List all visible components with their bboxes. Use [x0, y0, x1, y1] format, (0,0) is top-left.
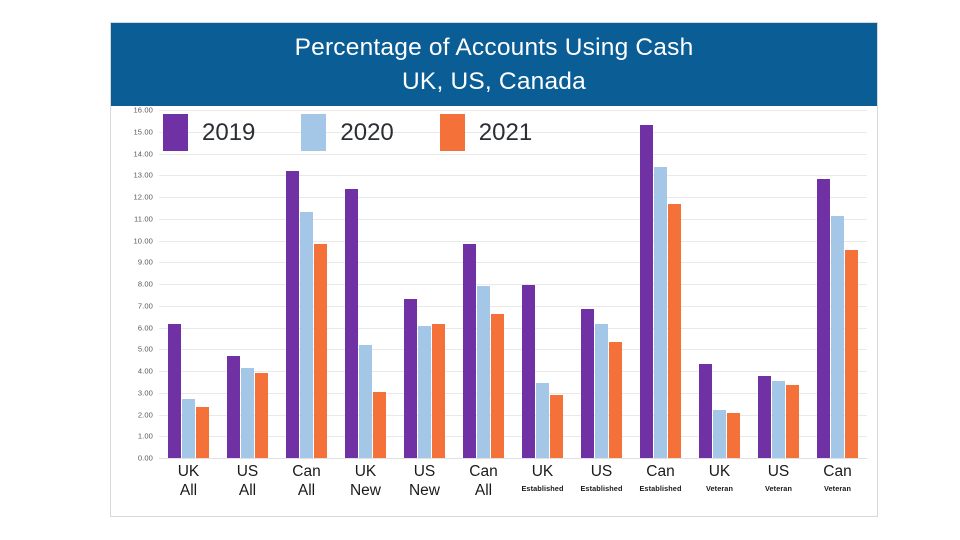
bar-2019[interactable] [581, 309, 594, 458]
y-axis-tick-label: 11.00 [134, 214, 153, 223]
bar-2019[interactable] [404, 299, 417, 458]
bar-2020[interactable] [418, 326, 431, 458]
y-axis-tick-label: 13.00 [133, 171, 153, 180]
bar-2021[interactable] [550, 395, 563, 458]
bar-group [749, 110, 808, 458]
x-axis-label-segment: Veteran [749, 481, 808, 497]
x-axis-label: USEstablished [572, 460, 631, 510]
bar-2019[interactable] [758, 376, 771, 458]
x-axis-label-country: UK [513, 462, 572, 481]
legend-item-2021[interactable]: 2021 [440, 114, 578, 151]
legend-label-2020: 2020 [340, 119, 393, 147]
x-axis-label: CanVeteran [808, 460, 867, 510]
y-axis-tick-label: 8.00 [138, 280, 153, 289]
bar-2020[interactable] [654, 167, 667, 458]
y-axis-tick-label: 2.00 [138, 410, 153, 419]
y-axis-tick-label: 16.00 [133, 106, 153, 115]
x-axis-label-country: Can [277, 462, 336, 481]
x-axis-label: UKEstablished [513, 460, 572, 510]
y-axis-tick-label: 3.00 [138, 388, 153, 397]
x-axis-label-segment: All [454, 481, 513, 500]
bar-2020[interactable] [713, 410, 726, 458]
y-axis-tick-label: 15.00 [133, 127, 153, 136]
bar-2019[interactable] [817, 179, 830, 458]
x-axis-label-segment: Veteran [690, 481, 749, 497]
y-axis-tick-label: 7.00 [138, 301, 153, 310]
x-axis-label: USVeteran [749, 460, 808, 510]
slide-canvas: Percentage of Accounts Using Cash UK, US… [0, 0, 960, 540]
x-axis-label-country: Can [631, 462, 690, 481]
bar-2020[interactable] [300, 212, 313, 458]
legend-item-2019[interactable]: 2019 [163, 114, 301, 151]
x-axis-label: CanAll [454, 460, 513, 510]
bar-2020[interactable] [831, 216, 844, 459]
x-axis-label: UKVeteran [690, 460, 749, 510]
bar-2019[interactable] [345, 189, 358, 458]
bar-2021[interactable] [609, 342, 622, 458]
bar-group [218, 110, 277, 458]
plot-area: 201920202021 16.0015.0014.0013.0012.0011… [111, 106, 877, 516]
y-axis-tick-label: 0.00 [138, 454, 153, 463]
x-axis-label-country: US [395, 462, 454, 481]
bar-2020[interactable] [359, 345, 372, 458]
legend-item-2020[interactable]: 2020 [301, 114, 439, 151]
bar-2020[interactable] [536, 383, 549, 458]
gridline: 0.00 [159, 458, 867, 459]
legend-swatch-2020 [301, 114, 326, 151]
x-axis-label-country: US [749, 462, 808, 481]
bar-2021[interactable] [196, 407, 209, 458]
y-axis-tick-label: 1.00 [138, 432, 153, 441]
bar-2019[interactable] [463, 244, 476, 458]
legend-swatch-2019 [163, 114, 188, 151]
legend-label-2019: 2019 [202, 119, 255, 147]
page-title-line-1: Percentage of Accounts Using Cash [295, 31, 694, 65]
bar-group [395, 110, 454, 458]
x-axis-label-segment: Established [572, 481, 631, 497]
x-axis-label: USAll [218, 460, 277, 510]
x-axis-labels: UKAllUSAllCanAllUKNewUSNewCanAllUKEstabl… [159, 460, 867, 510]
x-axis-label-segment: All [218, 481, 277, 500]
x-axis-label-segment: All [277, 481, 336, 500]
x-axis-label-country: UK [336, 462, 395, 481]
bar-group [513, 110, 572, 458]
bar-group [690, 110, 749, 458]
x-axis-label: UKAll [159, 460, 218, 510]
bar-2019[interactable] [699, 364, 712, 458]
bar-2021[interactable] [491, 314, 504, 458]
y-axis-tick-label: 6.00 [138, 323, 153, 332]
bar-group [572, 110, 631, 458]
bar-2020[interactable] [182, 399, 195, 458]
bar-groups [159, 110, 867, 458]
bar-2021[interactable] [432, 324, 445, 458]
x-axis-label-segment: All [159, 481, 218, 500]
legend-swatch-2021 [440, 114, 465, 151]
x-axis-label-segment: Veteran [808, 481, 867, 497]
chart-legend: 201920202021 [163, 114, 578, 151]
y-axis-tick-label: 5.00 [138, 345, 153, 354]
x-axis-label-country: UK [159, 462, 218, 481]
legend-label-2021: 2021 [479, 119, 532, 147]
x-axis-label: UKNew [336, 460, 395, 510]
x-axis-label: CanEstablished [631, 460, 690, 510]
bar-2019[interactable] [522, 285, 535, 458]
bar-2021[interactable] [845, 250, 858, 458]
bar-group [454, 110, 513, 458]
bar-2019[interactable] [640, 125, 653, 458]
x-axis-label-segment: New [336, 481, 395, 500]
y-axis-tick-label: 10.00 [133, 236, 153, 245]
bar-2021[interactable] [255, 373, 268, 458]
x-axis-label: USNew [395, 460, 454, 510]
chart-title-banner: Percentage of Accounts Using Cash UK, US… [111, 23, 877, 106]
y-axis-tick-label: 12.00 [133, 193, 153, 202]
bar-2021[interactable] [314, 244, 327, 458]
y-axis-tick-label: 4.00 [138, 367, 153, 376]
y-axis-tick-label: 9.00 [138, 258, 153, 267]
bar-group [277, 110, 336, 458]
chart-card: Percentage of Accounts Using Cash UK, US… [110, 22, 878, 517]
bar-group [336, 110, 395, 458]
bar-2020[interactable] [595, 324, 608, 458]
x-axis-label-country: Can [808, 462, 867, 481]
plot-grid: 16.0015.0014.0013.0012.0011.0010.009.008… [159, 110, 867, 458]
bar-2019[interactable] [227, 356, 240, 458]
bar-2021[interactable] [727, 413, 740, 458]
x-axis-label-country: UK [690, 462, 749, 481]
x-axis-label-segment: Established [631, 481, 690, 497]
x-axis-label-country: Can [454, 462, 513, 481]
y-axis-tick-label: 14.00 [133, 149, 153, 158]
x-axis-label-segment: New [395, 481, 454, 500]
bar-group [631, 110, 690, 458]
bar-2020[interactable] [477, 286, 490, 458]
bar-2019[interactable] [168, 324, 181, 458]
bar-2020[interactable] [772, 381, 785, 458]
x-axis-label-country: US [572, 462, 631, 481]
bar-group [808, 110, 867, 458]
x-axis-label-segment: Established [513, 481, 572, 497]
bar-2019[interactable] [286, 171, 299, 458]
x-axis-label: CanAll [277, 460, 336, 510]
bar-2021[interactable] [373, 392, 386, 458]
page-title-line-2: UK, US, Canada [402, 65, 586, 99]
bar-2021[interactable] [668, 204, 681, 458]
bar-group [159, 110, 218, 458]
bar-2020[interactable] [241, 368, 254, 458]
x-axis-label-country: US [218, 462, 277, 481]
bar-2021[interactable] [786, 385, 799, 458]
